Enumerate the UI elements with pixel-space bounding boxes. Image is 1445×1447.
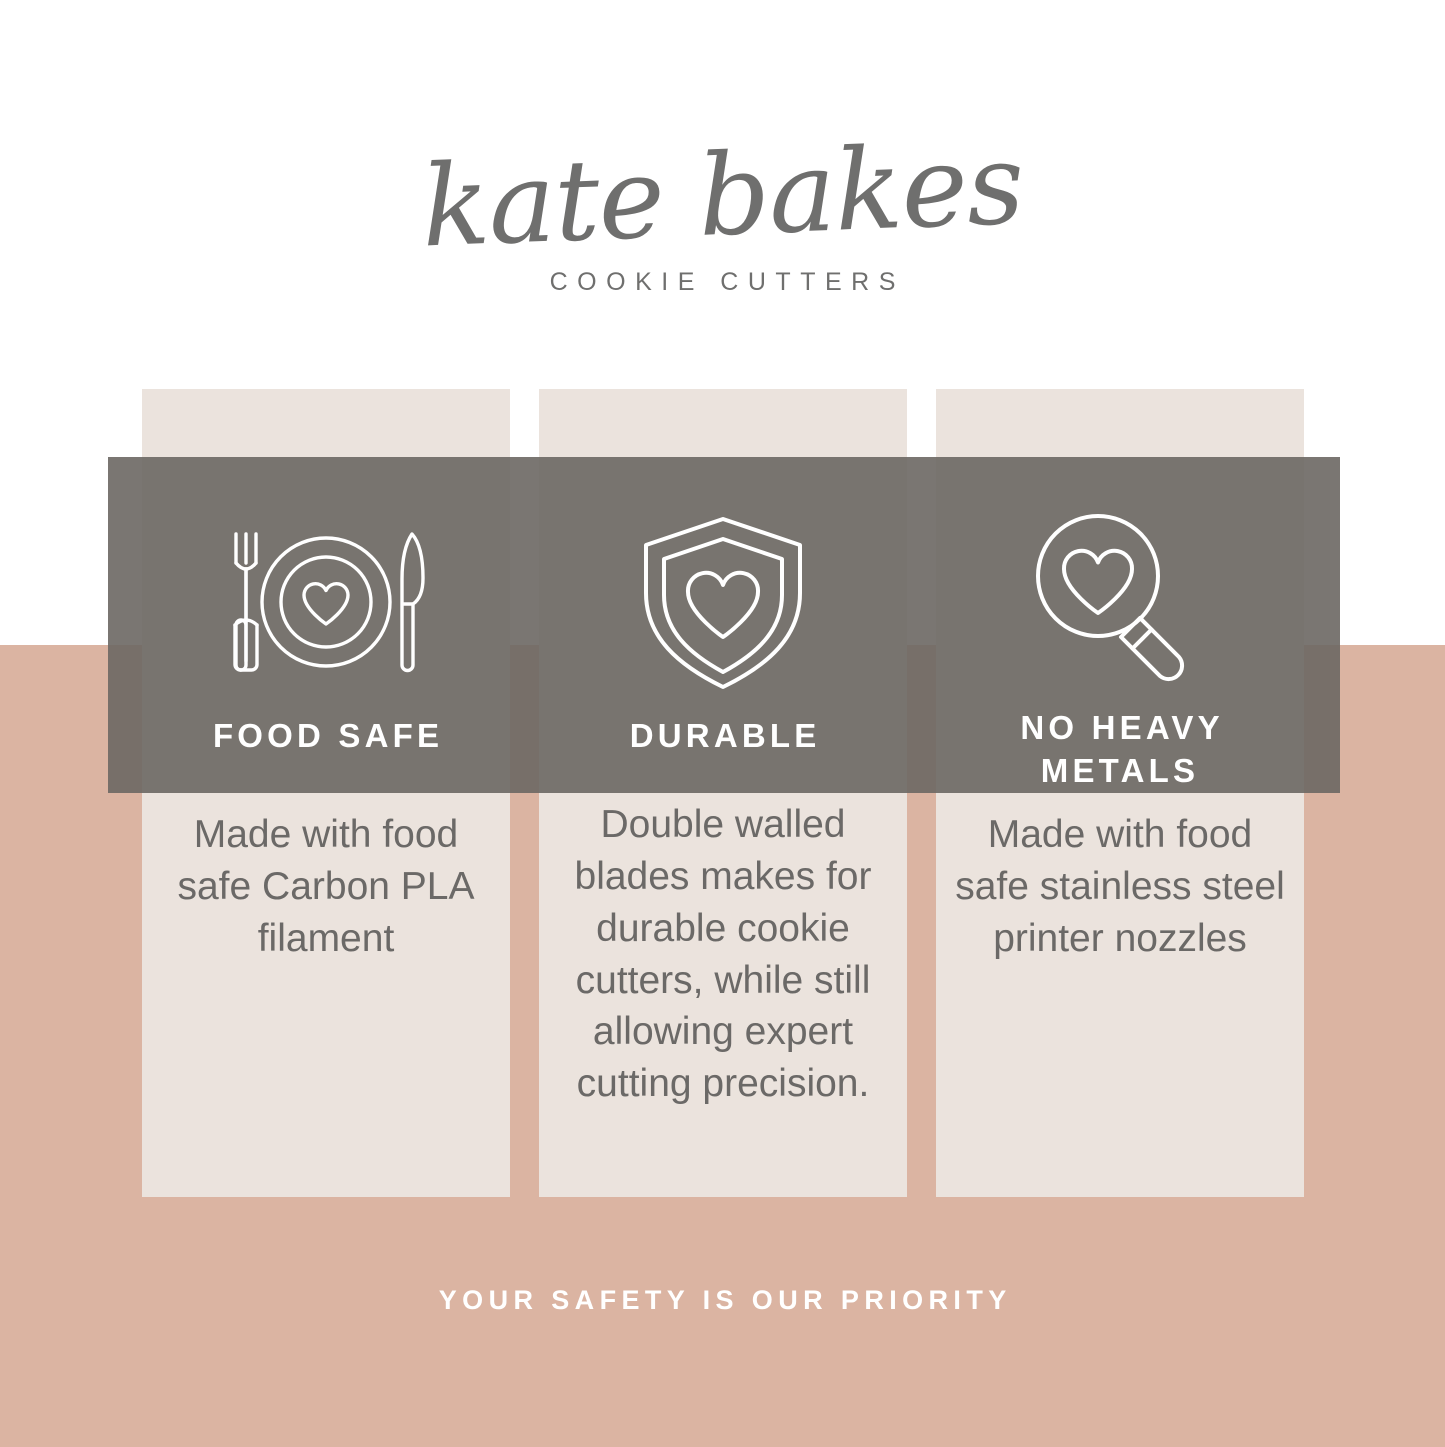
footer-tagline: YOUR SAFETY IS OUR PRIORITY [0, 1285, 1445, 1316]
feature-label: NO HEAVY METALS [1016, 707, 1224, 793]
shield-heart-icon [638, 505, 808, 701]
feature-label: DURABLE [626, 715, 821, 758]
feature-description: Double walled blades makes for durable c… [539, 799, 907, 1110]
brand-subtitle: COOKIE CUTTERS [0, 268, 1445, 297]
magnifier-heart-icon [1030, 505, 1210, 693]
brand-logo: kate bakes COOKIE CUTTERS [0, 140, 1445, 297]
brand-script-name: kate bakes [0, 112, 1445, 279]
feature-durable: DURABLE [539, 457, 907, 793]
feature-description: Made with food safe Carbon PLA filament [142, 809, 510, 965]
feature-no-heavy-metals: NO HEAVY METALS [936, 457, 1304, 793]
feature-description: Made with food safe stainless steel prin… [936, 809, 1304, 965]
feature-food-safe: FOOD SAFE [142, 457, 510, 793]
safety-infographic-poster: kate bakes COOKIE CUTTERS Made with food… [0, 0, 1445, 1447]
plate-fork-knife-heart-icon [226, 505, 426, 701]
feature-label: FOOD SAFE [209, 715, 444, 758]
